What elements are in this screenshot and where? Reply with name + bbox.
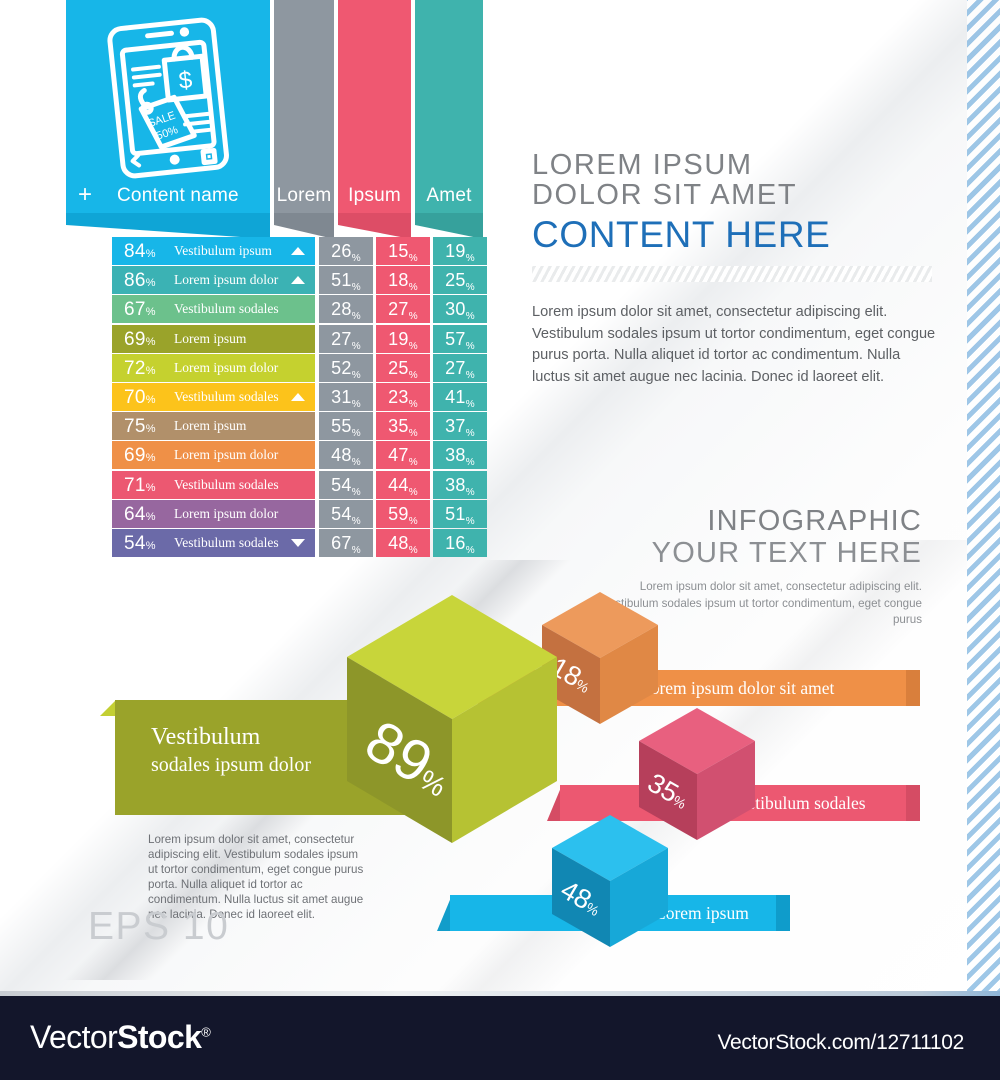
green-ribbon-corner <box>100 700 116 716</box>
table-row-name-cell[interactable]: 54%Vestibulum sodales <box>112 529 315 557</box>
table-cell-ipsum: 59% <box>376 500 430 528</box>
table-row-label: Lorem ipsum dolor <box>174 447 278 463</box>
hatched-divider <box>532 266 932 282</box>
table-cell-lorem: 52% <box>319 354 373 382</box>
pink-ribbon-tip <box>906 785 920 821</box>
table-cell-ipsum: 18% <box>376 266 430 294</box>
table-row-percent: 86% <box>124 270 156 292</box>
tab-amet[interactable]: Amet <box>415 0 483 213</box>
table-row-name-cell[interactable]: 86%Lorem ipsum dolor <box>112 266 315 294</box>
table-cell-amet: 30% <box>433 295 487 323</box>
table-cell-amet: 19% <box>433 237 487 265</box>
headline-line2: DOLOR SIT AMET <box>532 180 932 210</box>
table-cell-amet: 38% <box>433 441 487 469</box>
table-row-label: Lorem ipsum <box>174 418 246 434</box>
table-cell-amet: 16% <box>433 529 487 557</box>
tab-lorem[interactable]: Lorem <box>274 0 334 213</box>
table-cell-lorem: 51% <box>319 266 373 294</box>
table-row-label: Vestibulum sodales <box>174 535 279 551</box>
brand-light: Vector <box>30 1019 117 1055</box>
table-cell-ipsum: 48% <box>376 529 430 557</box>
table-cell-amet: 27% <box>433 354 487 382</box>
table-cell-lorem: 28% <box>319 295 373 323</box>
table-row-caret-up-icon[interactable] <box>291 247 305 255</box>
table-row-label: Vestibulum sodales <box>174 477 279 493</box>
table-row-name-cell[interactable]: 69%Lorem ipsum <box>112 325 315 353</box>
table-row-label: Lorem ipsum dolor <box>174 272 278 288</box>
table-row-percent: 71% <box>124 475 156 497</box>
tab-amet-label: Amet <box>415 185 483 207</box>
table-cell-ipsum: 19% <box>376 325 430 353</box>
tab-ipsum[interactable]: Ipsum <box>338 0 411 213</box>
tab-fold-lorem <box>274 213 334 239</box>
table-row-name-cell[interactable]: 67%Vestibulum sodales <box>112 295 315 323</box>
table-cell-lorem: 54% <box>319 500 373 528</box>
green-title-line2: sodales ipsum dolor <box>151 754 311 777</box>
headline-accent: CONTENT HERE <box>532 212 932 258</box>
table-row-name-cell[interactable]: 64%Lorem ipsum dolor <box>112 500 315 528</box>
table-cell-lorem: 67% <box>319 529 373 557</box>
headline-paragraph: Lorem ipsum dolor sit amet, consectetur … <box>532 302 938 388</box>
orange-ribbon-label: Lorem ipsum dolor sit amet <box>640 670 834 706</box>
blue-ribbon-tip <box>776 895 790 931</box>
table-cell-amet: 41% <box>433 383 487 411</box>
tab-lorem-label: Lorem <box>274 185 334 207</box>
table-row-label: Vestibulum ipsum <box>174 243 272 259</box>
table-row-label: Lorem ipsum <box>174 331 246 347</box>
table-row-name-cell[interactable]: 75%Lorem ipsum <box>112 412 315 440</box>
svg-text:$: $ <box>177 66 193 94</box>
headline-line1: LOREM IPSUM <box>532 150 932 180</box>
table-cell-ipsum: 35% <box>376 412 430 440</box>
tab-content-name[interactable]: $ SALE 50% + Content name <box>66 0 270 213</box>
table-cell-amet: 38% <box>433 471 487 499</box>
table-row-percent: 54% <box>124 533 156 555</box>
table-row-label: Lorem ipsum dolor <box>174 506 278 522</box>
table-row-percent: 75% <box>124 416 156 438</box>
table-row-name-cell[interactable]: 72%Lorem ipsum dolor <box>112 354 315 382</box>
tab-ipsum-label: Ipsum <box>338 185 411 207</box>
table-cell-lorem: 27% <box>319 325 373 353</box>
table-cell-ipsum: 27% <box>376 295 430 323</box>
table-row-percent: 70% <box>124 387 156 409</box>
table-cell-ipsum: 23% <box>376 383 430 411</box>
table-row-name-cell[interactable]: 84%Vestibulum ipsum <box>112 237 315 265</box>
brand-bold: Stock <box>117 1019 201 1055</box>
vectorstock-logo: VectorStock® <box>30 1019 210 1056</box>
table-cell-amet: 37% <box>433 412 487 440</box>
table-cell-amet: 51% <box>433 500 487 528</box>
registered-mark: ® <box>201 1024 210 1039</box>
table-row-percent: 69% <box>124 329 156 351</box>
table-row-caret-up-icon[interactable] <box>291 393 305 401</box>
table-cell-amet: 57% <box>433 325 487 353</box>
table-row-percent: 72% <box>124 358 156 380</box>
headline-block: LOREM IPSUM DOLOR SIT AMET CONTENT HERE … <box>532 150 932 388</box>
table-row-name-cell[interactable]: 71%Vestibulum sodales <box>112 471 315 499</box>
tab-fold-ipsum <box>338 213 411 239</box>
table-row-caret-down-icon[interactable] <box>291 539 305 547</box>
blue-cube[interactable]: 48% <box>550 815 670 955</box>
green-cube[interactable]: 89% <box>345 595 560 855</box>
table-cell-ipsum: 15% <box>376 237 430 265</box>
table-row-percent: 67% <box>124 299 156 321</box>
green-title-line1: Vestibulum <box>151 724 260 751</box>
vectorstock-url: VectorStock.com/12711102 <box>717 1031 964 1055</box>
table-cell-amet: 25% <box>433 266 487 294</box>
table-row-name-cell[interactable]: 69%Lorem ipsum dolor <box>112 441 315 469</box>
table-cell-lorem: 48% <box>319 441 373 469</box>
table-cell-lorem: 54% <box>319 471 373 499</box>
vectorstock-footer: VectorStock® VectorStock.com/12711102 <box>0 995 1000 1080</box>
table-row-percent: 64% <box>124 504 156 526</box>
table-row-percent: 69% <box>124 445 156 467</box>
table-row-label: Lorem ipsum dolor <box>174 360 278 376</box>
table-row-label: Vestibulum sodales <box>174 301 279 317</box>
mobile-shopping-icon: $ SALE 50% <box>94 14 242 184</box>
table-row-name-cell[interactable]: 70%Vestibulum sodales <box>112 383 315 411</box>
eps-watermark: EPS 10 <box>88 905 229 949</box>
table-row-percent: 84% <box>124 241 156 263</box>
footer-sheen <box>0 991 1000 996</box>
table-cell-lorem: 26% <box>319 237 373 265</box>
tab-fold-amet <box>415 213 483 239</box>
table-row-label: Vestibulum sodales <box>174 389 279 405</box>
table-cell-ipsum: 25% <box>376 354 430 382</box>
tab-fold-content-name <box>66 213 270 239</box>
table-cell-lorem: 31% <box>319 383 373 411</box>
infographic-canvas: $ SALE 50% + Content name Lorem Ipsum Am… <box>0 0 1000 995</box>
table-cell-ipsum: 47% <box>376 441 430 469</box>
table-cell-lorem: 55% <box>319 412 373 440</box>
infographic-heading-line1: INFOGRAPHIC <box>600 505 922 537</box>
table-cell-ipsum: 44% <box>376 471 430 499</box>
table-row-caret-up-icon[interactable] <box>291 276 305 284</box>
orange-ribbon-tip <box>906 670 920 706</box>
tab-content-name-label: Content name <box>66 185 239 207</box>
